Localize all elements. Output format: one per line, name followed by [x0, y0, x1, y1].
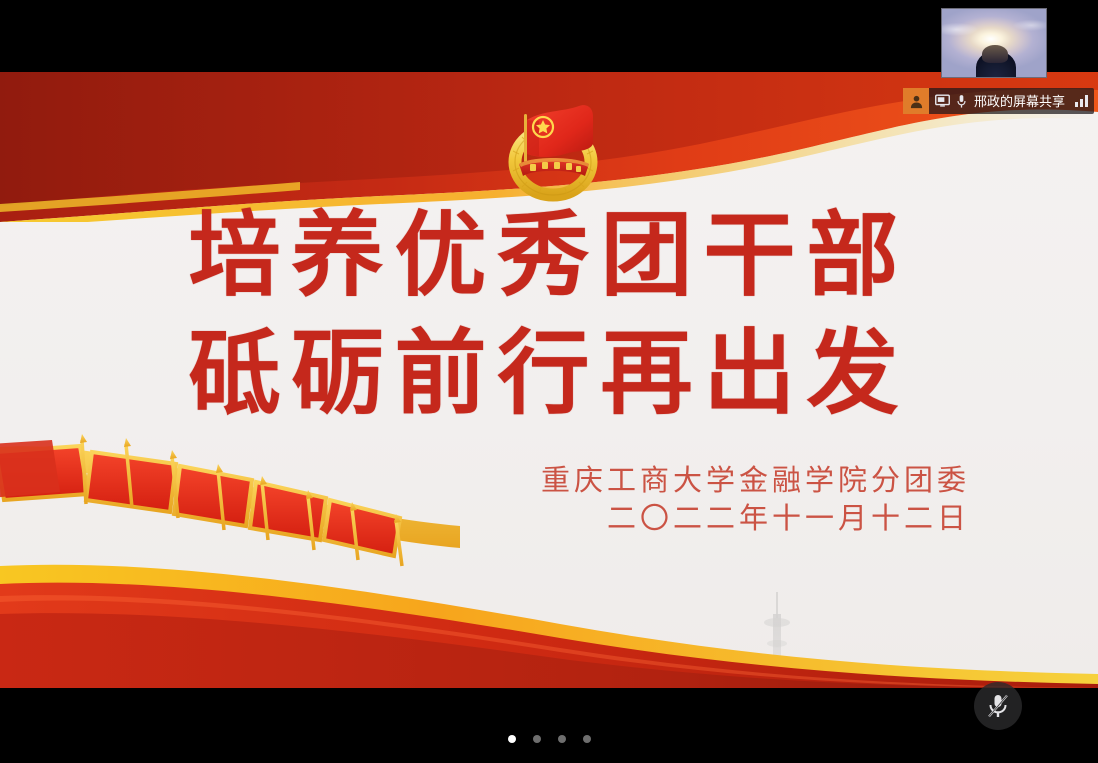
mute-toggle-button[interactable]: [974, 682, 1022, 730]
self-view-thumbnail[interactable]: [941, 8, 1047, 78]
pagination-dots[interactable]: [0, 735, 1098, 743]
signal-bars-icon: [1075, 95, 1088, 107]
communist-youth-league-emblem-icon: [497, 92, 609, 202]
self-view-person-head: [982, 45, 1008, 63]
slide-title-line-1: 培养优秀团干部: [0, 197, 1098, 315]
screen-share-label: 邢政的屏幕共享: [974, 95, 1065, 108]
pagination-dot-2[interactable]: [533, 735, 541, 743]
microphone-muted-icon: [985, 692, 1011, 720]
pagination-dot-1[interactable]: [508, 735, 516, 743]
screen-share-status-bar[interactable]: 邢政的屏幕共享: [903, 88, 1094, 114]
microphone-icon: [956, 94, 967, 109]
shared-slide[interactable]: 培养优秀团干部 砥砺前行再出发 重庆工商大学金融学院分团委 二〇二二年十一月十二…: [0, 72, 1098, 688]
slide-title: 培养优秀团干部 砥砺前行再出发: [0, 197, 1098, 433]
pagination-dot-3[interactable]: [558, 735, 566, 743]
pagination-dot-4[interactable]: [583, 735, 591, 743]
bottom-ribbon-decoration: [0, 438, 1098, 688]
person-icon: [909, 94, 924, 109]
monitor-icon: [935, 94, 950, 108]
screen-share-viewer: 培养优秀团干部 砥砺前行再出发 重庆工商大学金融学院分团委 二〇二二年十一月十二…: [0, 0, 1098, 763]
presenter-avatar: [903, 88, 929, 114]
